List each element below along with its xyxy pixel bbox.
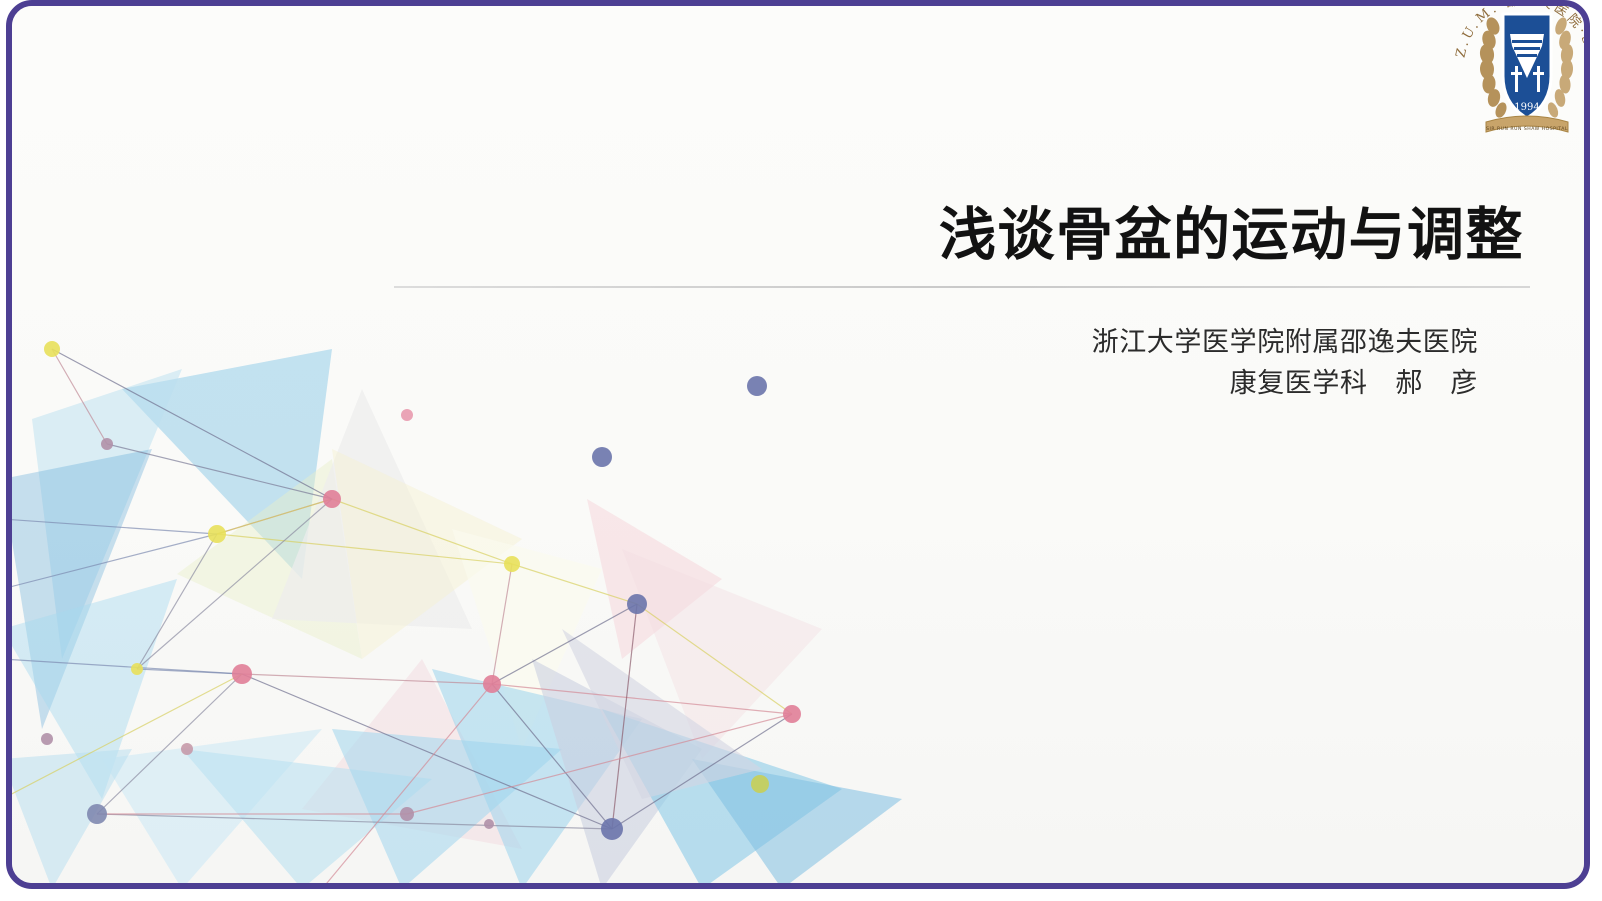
network-node-13 bbox=[601, 818, 623, 840]
network-node-4 bbox=[401, 409, 413, 421]
network-node-18 bbox=[484, 819, 494, 829]
polygon-1 bbox=[32, 369, 182, 659]
polygon-6 bbox=[332, 449, 522, 659]
logo-shield-year: 1994 bbox=[1514, 102, 1539, 113]
network-node-15 bbox=[400, 807, 414, 821]
network-edge-20 bbox=[492, 684, 612, 829]
network-node-5 bbox=[131, 663, 143, 675]
polygon-14 bbox=[432, 669, 642, 883]
network-edge-6 bbox=[332, 499, 512, 564]
network-node-11 bbox=[592, 447, 612, 467]
network-edge-28 bbox=[322, 684, 492, 883]
polygon-18 bbox=[562, 629, 762, 799]
network-edge-17 bbox=[637, 604, 792, 714]
page-title: 浅谈骨盆的运动与调整 bbox=[392, 204, 1532, 268]
polygon-17 bbox=[692, 759, 902, 883]
network-edge-12 bbox=[242, 674, 492, 684]
logo-ribbon-icon: SIR RUN RUN SHAW HOSPITAL bbox=[1486, 116, 1568, 132]
network-node-7 bbox=[483, 675, 501, 693]
network-node-2 bbox=[323, 490, 341, 508]
network-edge-9 bbox=[137, 534, 217, 669]
polygon-7 bbox=[452, 529, 602, 749]
network-nodes bbox=[41, 341, 801, 840]
polygon-16 bbox=[602, 709, 842, 883]
network-edge-4 bbox=[217, 499, 332, 534]
network-edge-8 bbox=[12, 534, 217, 589]
polygon-5 bbox=[272, 389, 472, 629]
presentation-slide: Z.U.M.·邵逸夫医院·S bbox=[0, 0, 1602, 901]
slide-canvas: Z.U.M.·邵逸夫医院·S bbox=[12, 6, 1584, 883]
network-node-17 bbox=[41, 733, 53, 745]
network-edge-19 bbox=[612, 604, 637, 829]
network-edge-18 bbox=[492, 684, 792, 714]
polygon-19 bbox=[12, 749, 132, 883]
network-edge-11 bbox=[137, 669, 242, 674]
polygon-2 bbox=[12, 449, 152, 729]
polygon-4 bbox=[177, 459, 362, 659]
network-edge-7 bbox=[12, 519, 217, 534]
logo-shield-icon: 1994 bbox=[1503, 14, 1551, 118]
network-node-3 bbox=[208, 525, 226, 543]
network-edge-26 bbox=[97, 674, 242, 814]
network-edge-16 bbox=[512, 564, 637, 604]
logo-ribbon-text: SIR RUN RUN SHAW HOSPITAL bbox=[1486, 126, 1568, 132]
network-node-19 bbox=[751, 775, 769, 793]
polygon-12 bbox=[182, 749, 432, 883]
polygon-0 bbox=[122, 349, 332, 579]
low-poly-network-graphic bbox=[12, 329, 962, 883]
subtitle-line-department-author: 康复医学科 郝 彦 bbox=[392, 363, 1478, 404]
network-edge-10 bbox=[137, 499, 332, 669]
network-edge-25 bbox=[407, 714, 792, 814]
network-edge-3 bbox=[217, 499, 332, 534]
network-edge-0 bbox=[52, 349, 332, 499]
polygon-8 bbox=[587, 499, 722, 659]
subtitle-block: 浙江大学医学院附属邵逸夫医院 康复医学科 郝 彦 bbox=[392, 322, 1532, 404]
polygon-9 bbox=[622, 549, 822, 759]
network-edge-13 bbox=[12, 659, 242, 674]
network-edge-15 bbox=[492, 604, 637, 684]
network-edge-22 bbox=[242, 674, 612, 829]
network-edge-1 bbox=[52, 349, 107, 444]
network-edge-14 bbox=[492, 564, 512, 684]
polygon-3 bbox=[12, 579, 177, 799]
network-edge-5 bbox=[217, 534, 512, 564]
polygon-10 bbox=[302, 659, 522, 849]
network-edge-2 bbox=[107, 444, 332, 499]
polygon-15 bbox=[532, 659, 702, 883]
polygon-11 bbox=[102, 729, 322, 883]
network-node-6 bbox=[232, 664, 252, 684]
network-node-12 bbox=[783, 705, 801, 723]
network-node-16 bbox=[181, 743, 193, 755]
hospital-logo-icon: Z.U.M.·邵逸夫医院·S bbox=[1450, 6, 1584, 142]
polygon-shapes bbox=[12, 349, 902, 883]
network-node-9 bbox=[627, 594, 647, 614]
slide-frame-border: Z.U.M.·邵逸夫医院·S bbox=[6, 0, 1590, 889]
network-node-14 bbox=[87, 804, 107, 824]
title-divider bbox=[394, 286, 1530, 288]
title-block: 浅谈骨盆的运动与调整 浙江大学医学院附属邵逸夫医院 康复医学科 郝 彦 bbox=[392, 204, 1532, 404]
network-node-8 bbox=[504, 556, 520, 572]
network-edge-23 bbox=[97, 814, 612, 829]
network-node-1 bbox=[101, 438, 113, 450]
polygon-13 bbox=[332, 729, 562, 883]
network-edge-27 bbox=[12, 674, 242, 799]
subtitle-line-institution: 浙江大学医学院附属邵逸夫医院 bbox=[392, 322, 1478, 363]
network-node-0 bbox=[44, 341, 60, 357]
network-edges bbox=[12, 349, 792, 883]
network-edge-21 bbox=[612, 714, 792, 829]
